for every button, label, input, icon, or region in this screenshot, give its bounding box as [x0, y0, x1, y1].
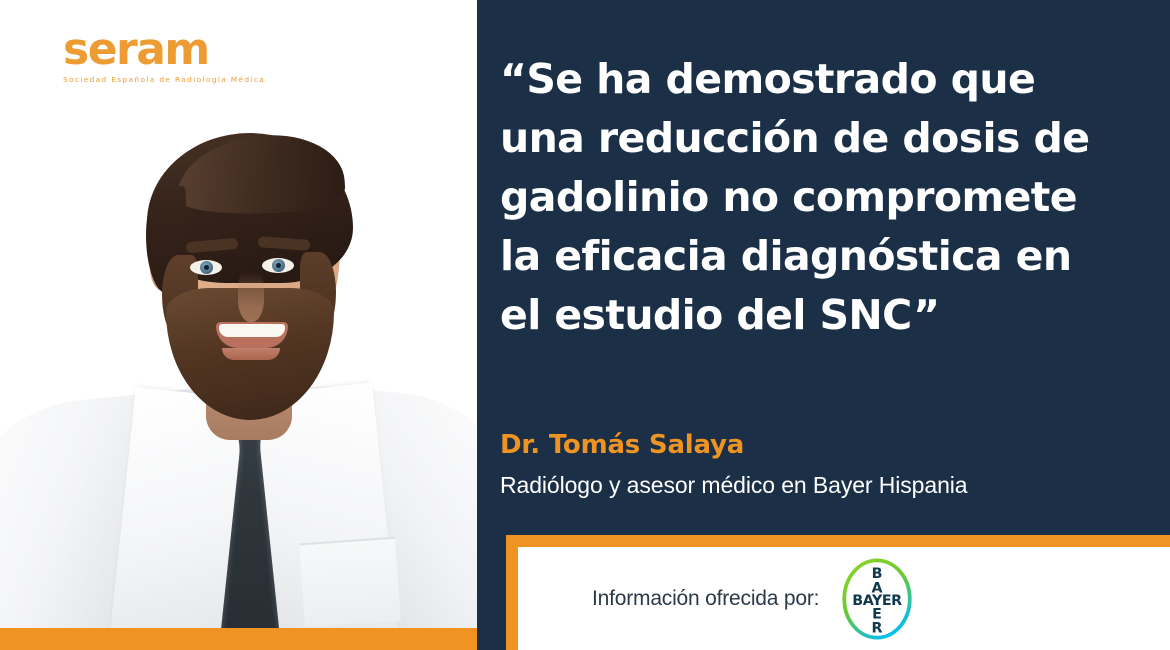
sponsor-card: Información ofrecida por: B A E R BAYE: [506, 535, 1170, 650]
iris-left: [200, 261, 213, 274]
offered-by-label: Información ofrecida por:: [592, 587, 819, 611]
quote-line: “Se ha demostrado que: [500, 55, 1035, 103]
bayer-logo-icon: B A E R BAYER: [835, 557, 919, 641]
mouth: [216, 322, 288, 348]
eye-left: [190, 260, 222, 275]
lab-coat-pocket: [299, 537, 401, 627]
quote-line: gadolinio no compromete: [500, 173, 1077, 221]
nose: [238, 272, 264, 322]
author-name: Dr. Tomás Salaya: [500, 430, 744, 460]
eye-right: [262, 258, 294, 273]
photo-panel: seram Sociedad Española de Radiología Mé…: [0, 0, 477, 650]
seram-logo: seram Sociedad Española de Radiología Mé…: [63, 28, 273, 84]
quote-line: el estudio del SNC”: [500, 291, 939, 339]
quote-line: una reducción de dosis de: [500, 114, 1089, 162]
portrait-photo: [0, 0, 477, 650]
svg-text:R: R: [872, 620, 883, 636]
pupil-left: [204, 265, 209, 270]
iris-right: [272, 259, 285, 272]
sponsor-card-inner: Información ofrecida por: B A E R BAYE: [518, 547, 1170, 650]
lower-lip: [222, 348, 280, 360]
quote-line: la eficacia diagnóstica en: [500, 232, 1071, 280]
quote-text: “Se ha demostrado que una reducción de d…: [500, 50, 1140, 345]
quote-card: seram Sociedad Española de Radiología Mé…: [0, 0, 1170, 650]
seram-tagline: Sociedad Española de Radiología Médica: [63, 75, 273, 84]
teeth: [219, 324, 285, 337]
pupil-right: [276, 263, 281, 268]
left-orange-bar: [0, 628, 477, 650]
svg-text:BAYER: BAYER: [853, 592, 903, 608]
seram-wordmark: seram: [63, 28, 273, 72]
author-role: Radiólogo y asesor médico en Bayer Hispa…: [500, 472, 967, 499]
